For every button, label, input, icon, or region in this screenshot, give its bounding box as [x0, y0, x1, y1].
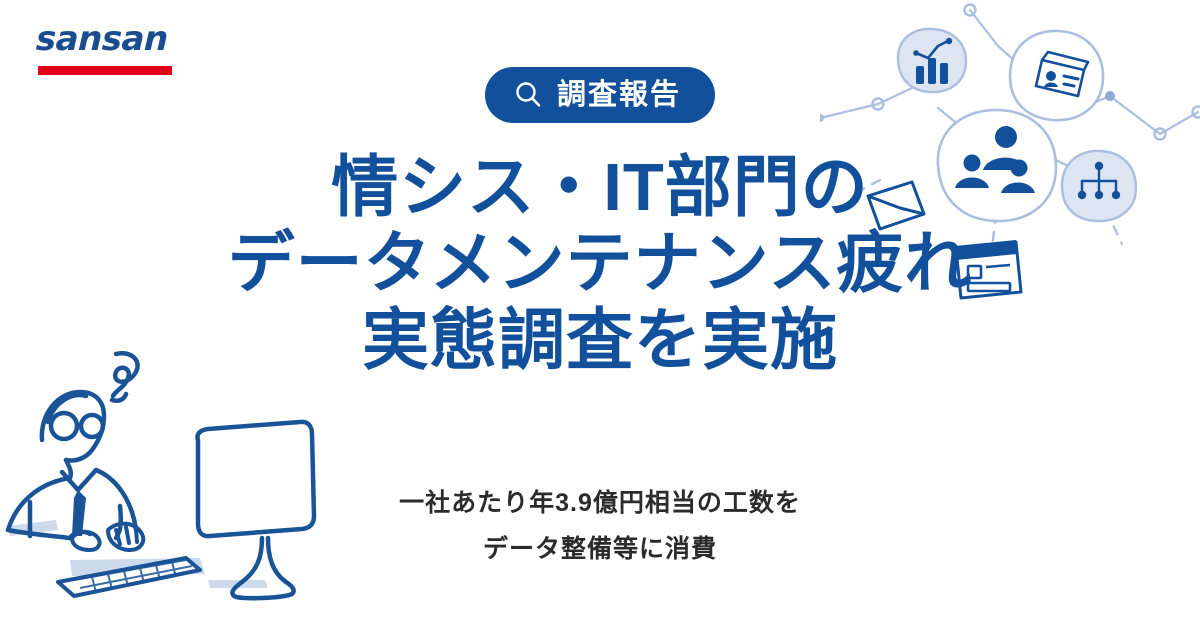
headline-line-2: データメンテナンス疲れ	[0, 226, 1200, 302]
page-subtitle: 一社あたり年3.9億円相当の工数を データ整備等に消費	[0, 480, 1200, 573]
headline-line-1: 情シス・IT部門の	[0, 150, 1200, 226]
search-icon	[513, 80, 543, 110]
headline-line-3: 実態調査を実施	[0, 303, 1200, 379]
badge-label: 調査報告	[557, 81, 681, 110]
network-node-dots	[820, 5, 1200, 140]
sansan-logo: sansan	[36, 22, 186, 75]
subtitle-line-1: 一社あたり年3.9億円相当の工数を	[0, 480, 1200, 526]
poster-canvas: sansan 調査報告 情シス・IT部門の データメンテナンス疲れ 実態調査を実…	[0, 0, 1200, 630]
subtitle-line-2: データ整備等に消費	[0, 526, 1200, 572]
logo-red-bar	[38, 66, 172, 75]
bar-chart-icon	[898, 29, 966, 92]
page-title: 情シス・IT部門の データメンテナンス疲れ 実態調査を実施	[0, 150, 1200, 379]
survey-report-badge: 調査報告	[485, 67, 715, 123]
business-cards-icon	[1010, 31, 1103, 120]
logo-wordmark: sansan	[35, 22, 186, 56]
